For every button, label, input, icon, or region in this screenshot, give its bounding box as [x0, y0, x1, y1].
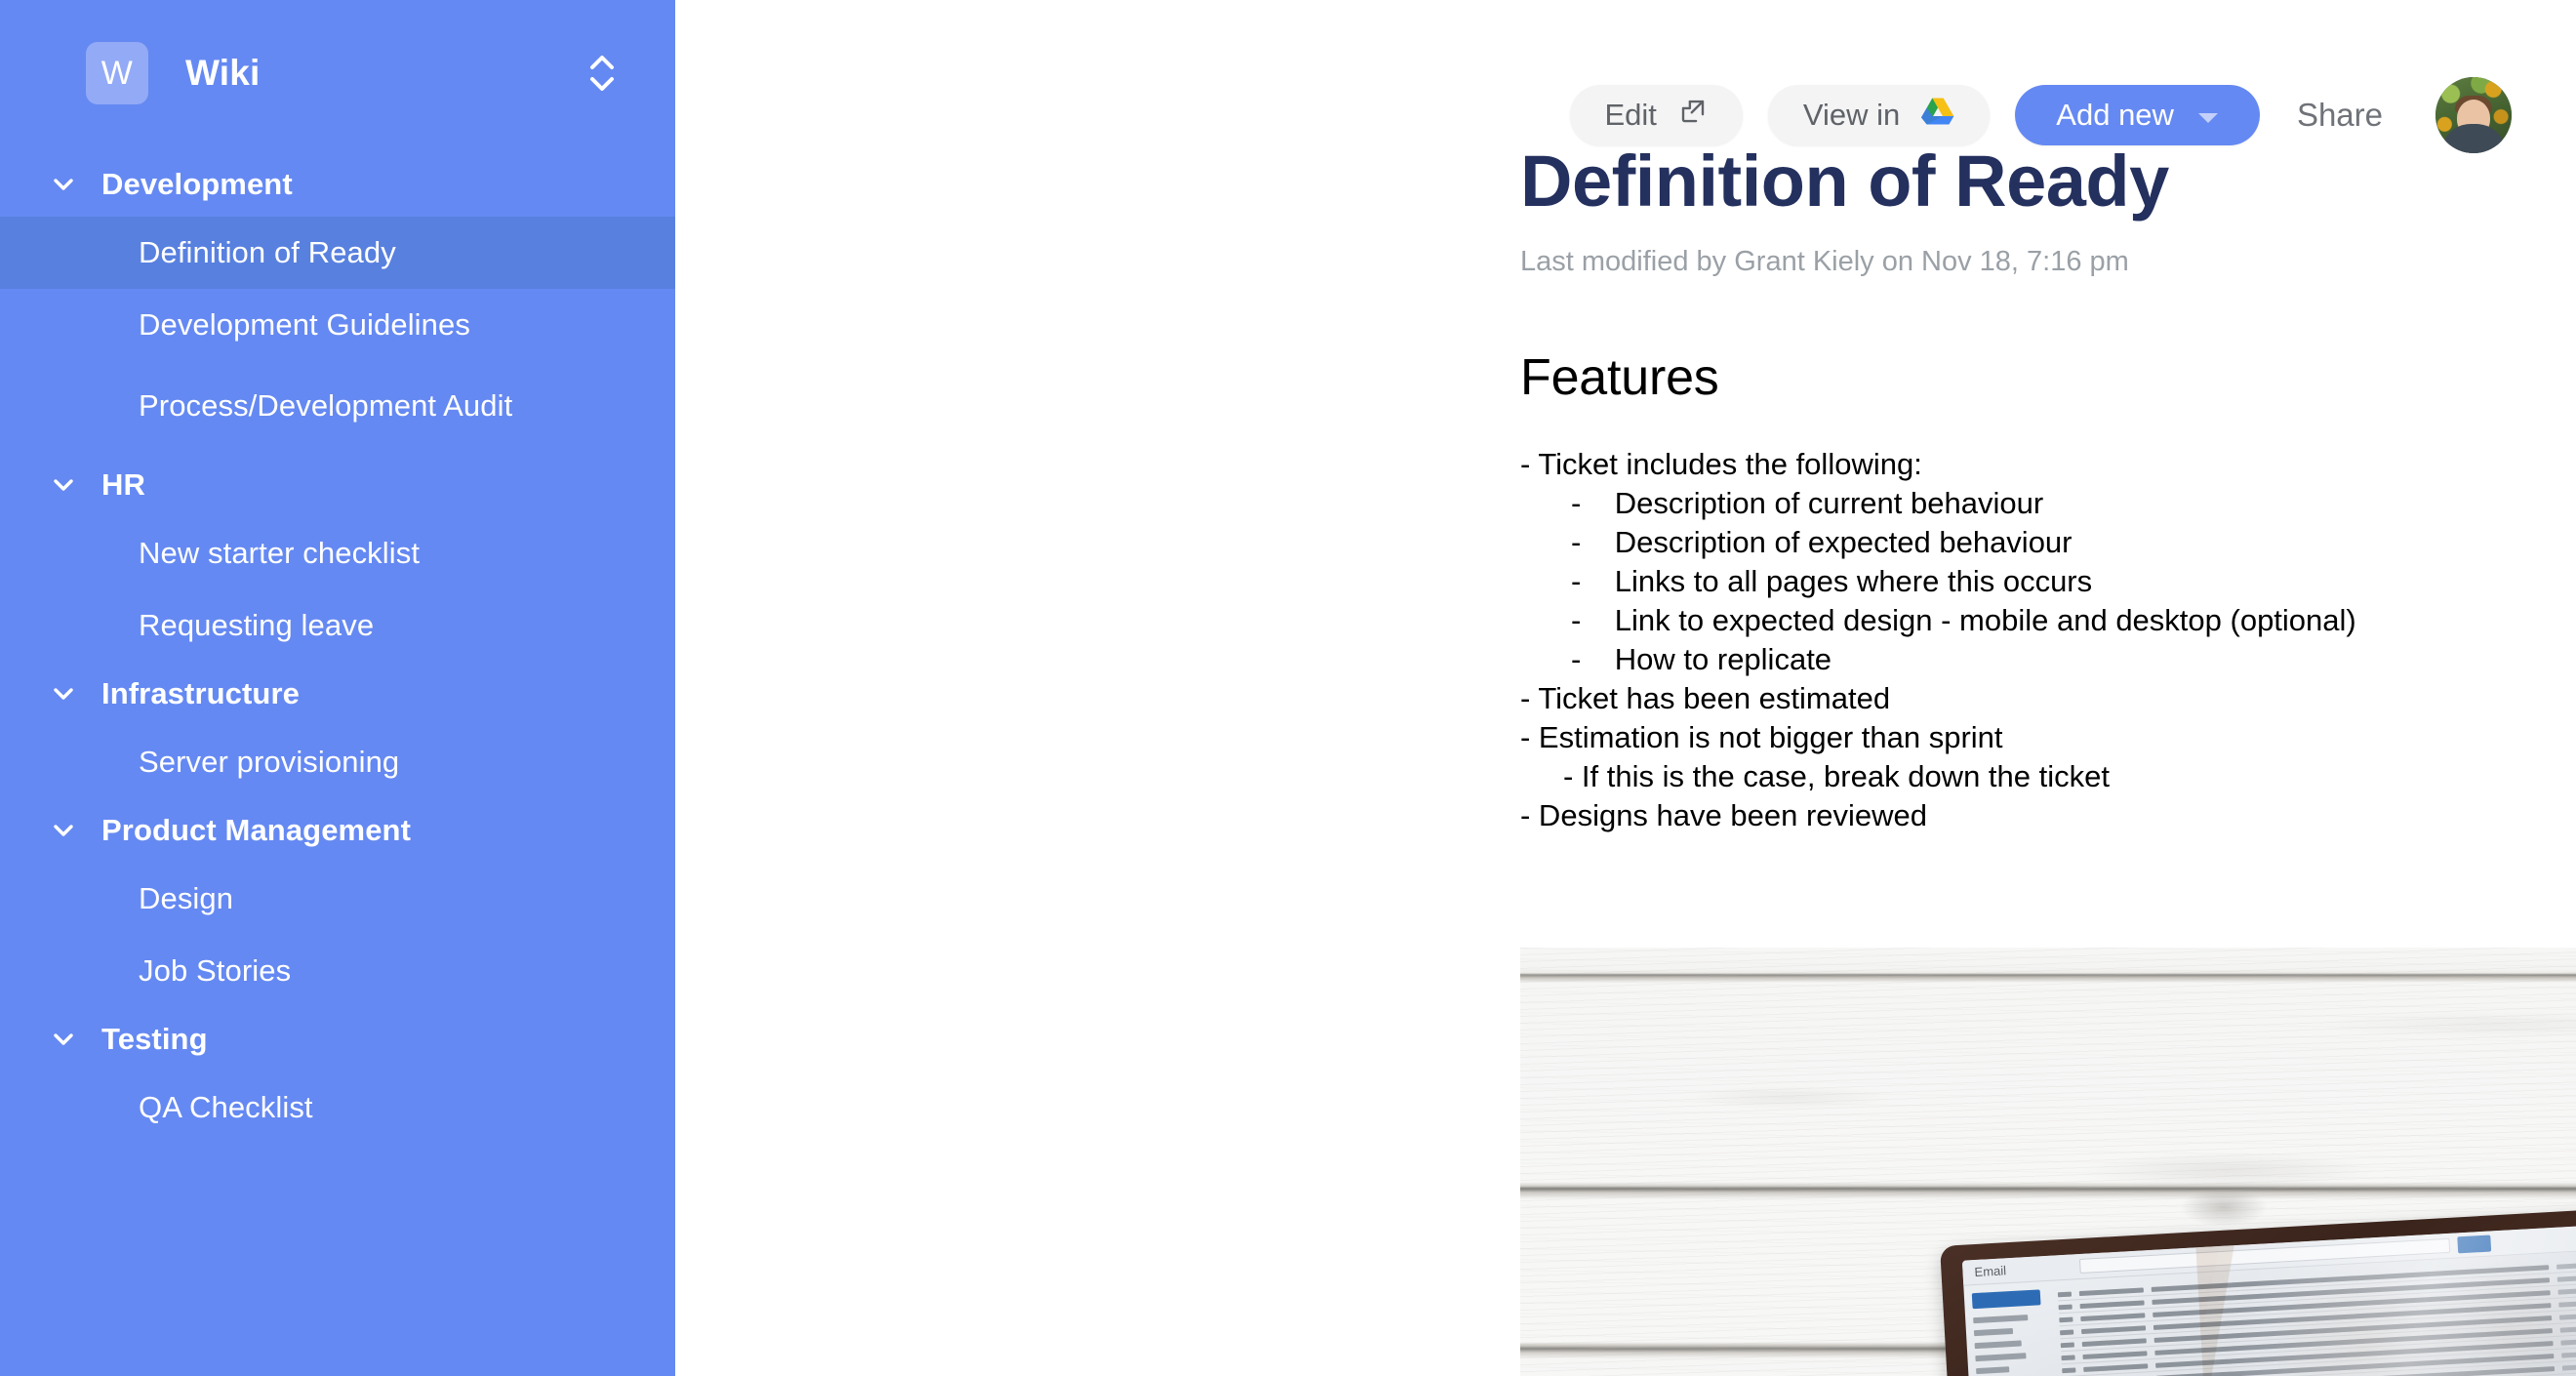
sidebar-item-label: QA Checklist [139, 1090, 313, 1125]
content-line: - Estimation is not bigger than sprint [1520, 718, 2576, 757]
chevron-down-icon [47, 1023, 80, 1056]
screen-folder-line [1973, 1315, 2028, 1323]
content-line: - Ticket includes the following: [1520, 445, 2576, 484]
sidebar-item-design[interactable]: Design [0, 863, 675, 935]
sidebar-section-label: Product Management [101, 813, 411, 848]
sidebar-item-label: Server provisioning [139, 745, 399, 780]
screen-sidebar [1972, 1289, 2055, 1376]
sidebar-section-label: HR [101, 467, 145, 503]
selector-up-down-icon[interactable] [585, 45, 619, 101]
google-drive-icon [1921, 97, 1954, 134]
laptop-screen: Email [1962, 1220, 2576, 1376]
external-link-icon [1678, 97, 1708, 134]
sidebar-section-hr[interactable]: HR [0, 453, 675, 517]
sidebar-item-label: Definition of Ready [139, 235, 396, 270]
workspace-logo-tile: W [86, 42, 148, 104]
content-line: - Link to expected design - mobile and d… [1520, 601, 2576, 640]
wiki-app: W Wiki Development Definition [0, 0, 2576, 1376]
sidebar-item-new-starter-checklist[interactable]: New starter checklist [0, 517, 675, 589]
sidebar-item-job-stories[interactable]: Job Stories [0, 935, 675, 1007]
content-line: - How to replicate [1520, 640, 2576, 679]
user-avatar[interactable] [2435, 77, 2512, 153]
caret-down-icon [2197, 98, 2219, 133]
sidebar-item-process-development-audit[interactable]: Process/Development Audit [0, 361, 675, 453]
workspace-logo-letter: W [101, 55, 134, 93]
last-modified-meta: Last modified by Grant Kiely on Nov 18, … [1520, 246, 2576, 278]
add-new-button-label: Add new [2056, 98, 2174, 133]
document-content: Features - Ticket includes the following… [1520, 350, 2576, 835]
sidebar-item-label: Process/Development Audit [139, 388, 512, 424]
laptop-on-white-wood-photo: Email [1520, 948, 2576, 1376]
workspace-title: Wiki [185, 53, 585, 94]
wood-knot [2180, 1188, 2268, 1227]
screen-folder-line [1975, 1353, 2026, 1361]
view-in-drive-button[interactable]: View in [1768, 85, 1990, 145]
content-line: - Links to all pages where this occurs [1520, 562, 2576, 601]
sidebar-section-testing[interactable]: Testing [0, 1007, 675, 1072]
screen-app-label: Email [1974, 1263, 2006, 1279]
sidebar-section-label: Testing [101, 1022, 208, 1057]
sidebar-item-server-provisioning[interactable]: Server provisioning [0, 726, 675, 798]
page-title: Definition of Ready [1520, 142, 2576, 221]
sidebar-nav: Development Definition of Ready Developm… [0, 152, 675, 1144]
sidebar-item-label: New starter checklist [139, 536, 420, 571]
screen-folder-line [1975, 1340, 2022, 1349]
edit-button-label: Edit [1605, 98, 1657, 133]
chevron-down-icon [47, 168, 80, 201]
sidebar-item-label: Design [139, 881, 233, 916]
edit-button[interactable]: Edit [1570, 85, 1743, 145]
sidebar: W Wiki Development Definition [0, 0, 675, 1376]
workspace-header[interactable]: W Wiki [0, 0, 675, 146]
section-heading-features: Features [1520, 350, 2576, 406]
sidebar-item-requesting-leave[interactable]: Requesting leave [0, 589, 675, 662]
screen-message-list [2058, 1259, 2576, 1376]
share-button[interactable]: Share [2291, 97, 2389, 134]
sidebar-item-label: Job Stories [139, 953, 291, 989]
document-body: Definition of Ready Last modified by Gra… [675, 142, 2576, 835]
content-line: - Designs have been reviewed [1520, 796, 2576, 835]
sidebar-section-infrastructure[interactable]: Infrastructure [0, 662, 675, 726]
view-in-button-label: View in [1803, 98, 1900, 133]
sidebar-item-development-guidelines[interactable]: Development Guidelines [0, 289, 675, 361]
screen-folder-line [1976, 1366, 2009, 1374]
content-line: - Description of current behaviour [1520, 484, 2576, 523]
chevron-down-icon [47, 677, 80, 710]
sidebar-section-development[interactable]: Development [0, 152, 675, 217]
content-line: - Description of expected behaviour [1520, 523, 2576, 562]
chevron-down-icon [47, 468, 80, 502]
screen-folder-line [1974, 1328, 2013, 1336]
sidebar-item-label: Requesting leave [139, 608, 374, 643]
add-new-button[interactable]: Add new [2015, 85, 2260, 145]
chevron-down-icon [47, 814, 80, 847]
sidebar-section-label: Infrastructure [101, 676, 300, 711]
content-line: - If this is the case, break down the ti… [1520, 757, 2576, 796]
content-line: - Ticket has been estimated [1520, 679, 2576, 718]
sidebar-section-label: Development [101, 167, 293, 202]
sidebar-item-label: Development Guidelines [139, 307, 470, 343]
screen-search-button [2457, 1234, 2491, 1253]
sidebar-section-product-management[interactable]: Product Management [0, 798, 675, 863]
sidebar-item-qa-checklist[interactable]: QA Checklist [0, 1072, 675, 1144]
screen-compose-button [1972, 1289, 2041, 1309]
sidebar-item-definition-of-ready[interactable]: Definition of Ready [0, 217, 675, 289]
checklist-lines: - Ticket includes the following: - Descr… [1520, 445, 2576, 835]
main-content: Edit View in [675, 0, 2576, 1376]
